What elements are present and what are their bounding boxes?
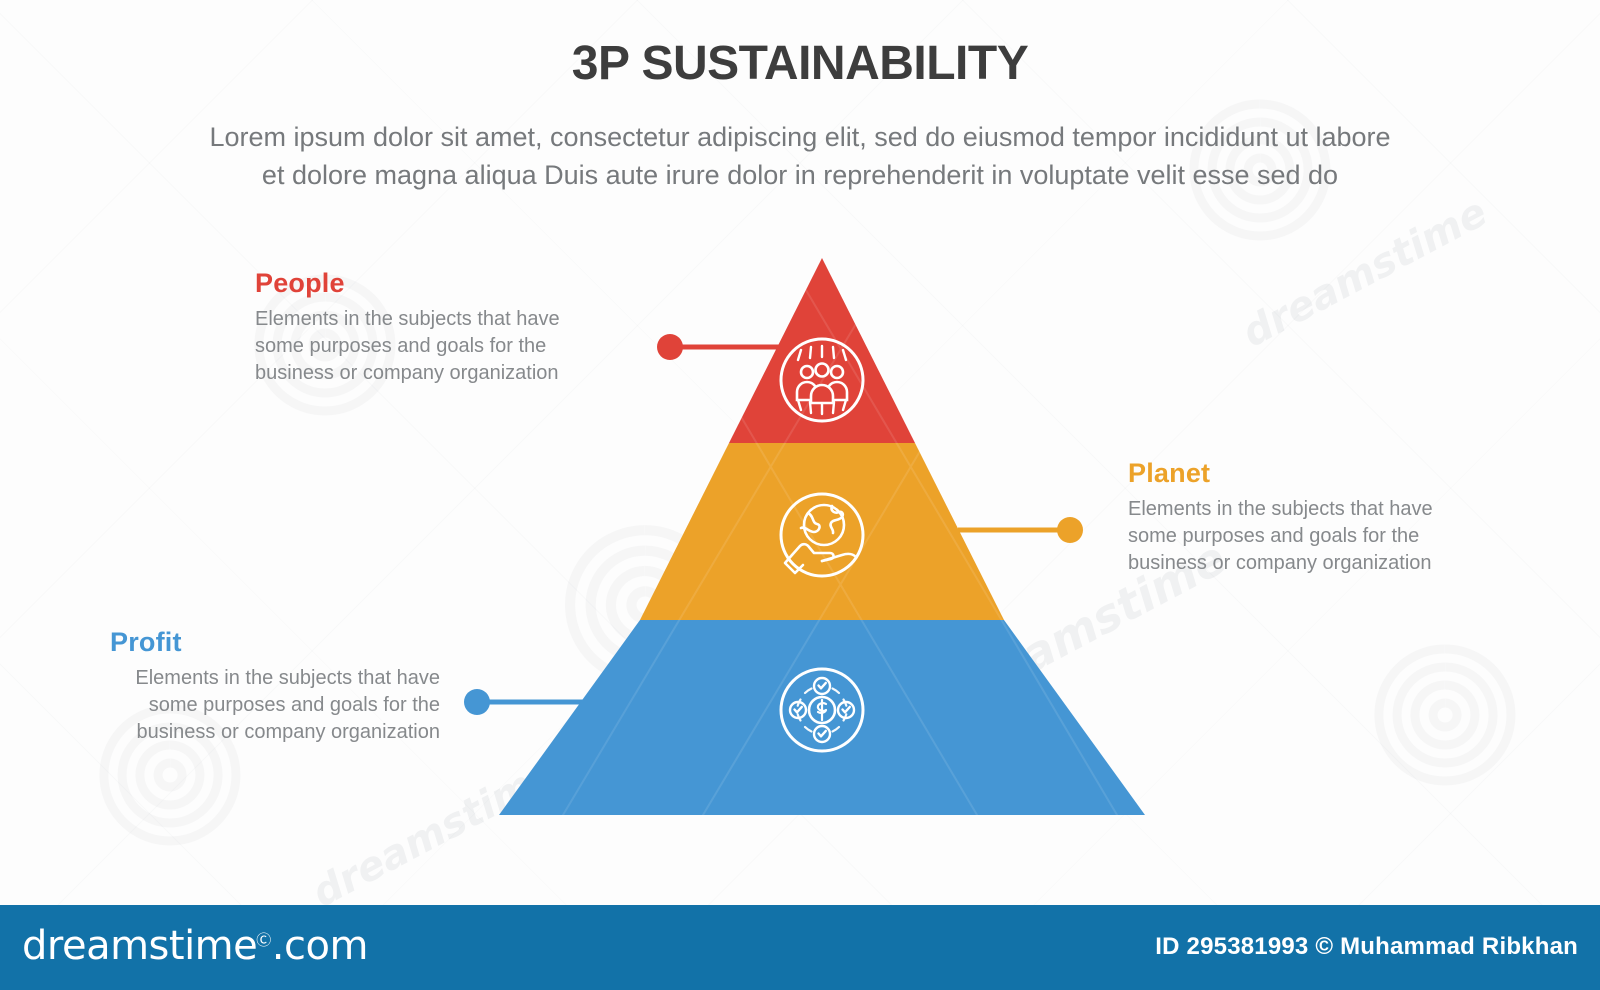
page-title: 3P SUSTAINABILITY xyxy=(0,36,1600,91)
page-subtitle: Lorem ipsum dolor sit amet, consectetur … xyxy=(90,118,1510,194)
info-desc-planet: Elements in the subjects that have some … xyxy=(1128,496,1458,577)
infographic-canvas: dreamstime dreamstime dreamstime 3P SUST… xyxy=(0,0,1600,990)
info-heading-planet: Planet xyxy=(1128,458,1458,489)
info-block-profit[interactable]: Profit Elements in the subjects that hav… xyxy=(110,627,440,746)
dreamstime-logo-text: dreamstime xyxy=(22,923,257,969)
page-subtitle-line-2: et dolore magna aliqua Duis aute irure d… xyxy=(90,156,1510,194)
page-subtitle-line-1: Lorem ipsum dolor sit amet, consectetur … xyxy=(90,118,1510,156)
info-desc-line: Elements in the subjects that have xyxy=(1128,496,1458,523)
connector-people xyxy=(657,334,788,360)
connector-dot-profit[interactable] xyxy=(464,689,490,715)
info-block-people[interactable]: People Elements in the subjects that hav… xyxy=(255,268,600,387)
info-desc-line: business or company organization xyxy=(110,719,440,746)
info-desc-line: some purposes and goals for the xyxy=(110,692,440,719)
connector-planet xyxy=(958,517,1083,543)
connector-profit xyxy=(464,689,588,715)
info-desc-profit: Elements in the subjects that have some … xyxy=(110,665,440,746)
info-desc-people: Elements in the subjects that have some … xyxy=(255,306,600,387)
connector-dot-planet[interactable] xyxy=(1057,517,1083,543)
dreamstime-logo[interactable]: dreamstimeⒸ.com xyxy=(22,923,368,969)
info-desc-line: business or company organization xyxy=(255,360,600,387)
info-heading-profit: Profit xyxy=(110,627,440,658)
dreamstime-logo-suffix: .com xyxy=(272,923,368,969)
info-desc-line: Elements in the subjects that have xyxy=(255,306,600,333)
connector-dot-people[interactable] xyxy=(657,334,683,360)
info-heading-people: People xyxy=(255,268,600,299)
info-desc-line: Elements in the subjects that have xyxy=(110,665,440,692)
registered-mark-icon: Ⓒ xyxy=(256,931,271,949)
footer-bar: dreamstimeⒸ.com ID 295381993 © Muhammad … xyxy=(0,905,1600,990)
info-desc-line: business or company organization xyxy=(1128,550,1458,577)
info-desc-line: some purposes and goals for the xyxy=(1128,523,1458,550)
image-credit: ID 295381993 © Muhammad Ribkhan xyxy=(1155,933,1578,961)
info-desc-line: some purposes and goals for the xyxy=(255,333,600,360)
info-block-planet[interactable]: Planet Elements in the subjects that hav… xyxy=(1128,458,1458,577)
